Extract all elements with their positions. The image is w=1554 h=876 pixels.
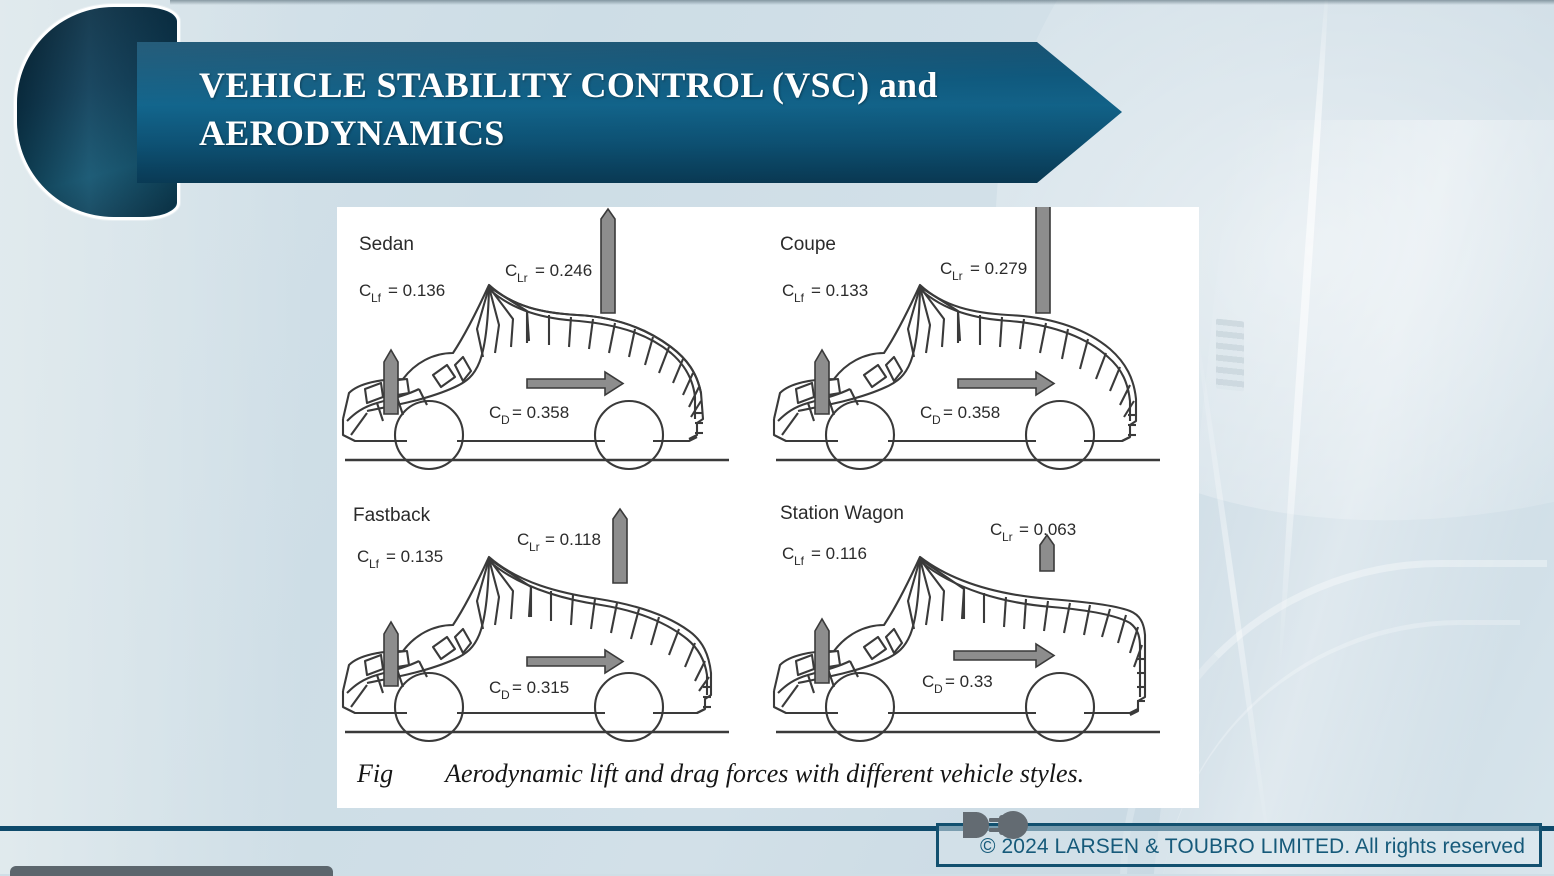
svg-text:Lf: Lf	[369, 557, 380, 571]
svg-text:C: C	[489, 678, 501, 697]
wagon-clf-label: C Lf = 0.116	[782, 544, 867, 568]
svg-text:D: D	[501, 413, 510, 427]
wagon-front-lift-arrow	[815, 619, 829, 683]
top-edge-strip	[170, 0, 1554, 5]
fastback-drag-arrow	[527, 650, 623, 673]
sedan-clr-label: C Lr = 0.246	[505, 261, 592, 285]
fastback-diagram: Fastback C Lf = 0.135 C Lr = 0.118 C D =…	[337, 479, 768, 751]
svg-text:= 0.315: = 0.315	[512, 678, 569, 697]
coupe-cd-label: C D = 0.358	[920, 403, 1000, 427]
station-wagon-diagram: Station Wagon C Lf = 0.116 C Lr = 0.063 …	[768, 479, 1199, 751]
taskbar-stub[interactable]	[10, 866, 333, 876]
svg-text:D: D	[501, 688, 510, 702]
svg-text:C: C	[505, 261, 517, 280]
svg-text:= 0.118: = 0.118	[545, 530, 601, 549]
svg-text:= 0.279: = 0.279	[970, 259, 1027, 278]
wagon-rear-lift-arrow	[1040, 535, 1054, 571]
coupe-drag-arrow	[958, 372, 1054, 395]
svg-text:= 0.063: = 0.063	[1019, 520, 1076, 539]
background-plate-detail	[1216, 319, 1244, 392]
plug-icon	[963, 808, 1033, 842]
svg-text:Lr: Lr	[517, 271, 528, 285]
sedan-title: Sedan	[359, 234, 414, 255]
fastback-title: Fastback	[353, 505, 431, 526]
figure-panels: Sedan C Lf = 0.136 C Lr = 0.246 C D = 0.…	[337, 207, 1199, 752]
svg-text:= 0.358: = 0.358	[943, 403, 1000, 422]
svg-text:C: C	[517, 530, 529, 549]
coupe-front-lift-arrow	[815, 350, 829, 414]
title-banner: VEHICLE STABILITY CONTROL (VSC) and AERO…	[137, 42, 1122, 183]
figure-caption: Fig Aerodynamic lift and drag forces wit…	[357, 759, 1187, 789]
fastback-rear-lift-arrow	[613, 509, 627, 583]
page-title: VEHICLE STABILITY CONTROL (VSC) and AERO…	[199, 62, 1079, 157]
svg-text:C: C	[357, 547, 369, 566]
coupe-rear-lift-arrow	[1036, 207, 1050, 313]
svg-text:D: D	[934, 682, 943, 696]
svg-text:C: C	[782, 544, 794, 563]
svg-text:Lf: Lf	[371, 291, 382, 305]
svg-text:= 0.246: = 0.246	[535, 261, 592, 280]
svg-text:C: C	[922, 672, 934, 691]
coupe-clr-label: C Lr = 0.279	[940, 259, 1027, 283]
svg-text:D: D	[932, 413, 941, 427]
svg-text:C: C	[782, 281, 794, 300]
svg-text:C: C	[940, 259, 952, 278]
coupe-clf-label: C Lf = 0.133	[782, 281, 868, 305]
svg-text:C: C	[920, 403, 932, 422]
figure-card: Sedan C Lf = 0.136 C Lr = 0.246 C D = 0.…	[337, 207, 1199, 808]
svg-text:= 0.33: = 0.33	[945, 672, 993, 691]
svg-text:C: C	[359, 281, 371, 300]
sedan-drag-arrow	[527, 372, 623, 395]
svg-text:= 0.133: = 0.133	[811, 281, 868, 300]
svg-text:Lr: Lr	[1002, 530, 1013, 544]
svg-text:C: C	[489, 403, 501, 422]
svg-text:Lf: Lf	[794, 554, 805, 568]
sedan-clf-label: C Lf = 0.136	[359, 281, 445, 305]
sedan-rear-lift-arrow	[601, 209, 615, 313]
svg-text:= 0.358: = 0.358	[512, 403, 569, 422]
sedan-front-lift-arrow	[384, 350, 398, 414]
coupe-diagram: Coupe C Lf = 0.133 C Lr = 0.279 C D = 0.…	[768, 207, 1199, 479]
fastback-clr-label: C Lr = 0.118	[517, 530, 601, 554]
svg-text:Lf: Lf	[794, 291, 805, 305]
wagon-drag-arrow	[954, 644, 1054, 667]
fastback-cd-label: C D = 0.315	[489, 678, 569, 702]
svg-text:= 0.135: = 0.135	[386, 547, 443, 566]
fastback-front-lift-arrow	[384, 622, 398, 686]
fastback-clf-label: C Lf = 0.135	[357, 547, 443, 571]
coupe-title: Coupe	[780, 234, 836, 255]
svg-text:C: C	[990, 520, 1002, 539]
sedan-cd-label: C D = 0.358	[489, 403, 569, 427]
wagon-title: Station Wagon	[780, 503, 904, 524]
panel-fastback: Fastback C Lf = 0.135 C Lr = 0.118 C D =…	[337, 479, 768, 751]
panel-station-wagon: Station Wagon C Lf = 0.116 C Lr = 0.063 …	[768, 479, 1199, 751]
svg-text:= 0.136: = 0.136	[388, 281, 445, 300]
svg-text:= 0.116: = 0.116	[811, 544, 867, 563]
panel-coupe: Coupe C Lf = 0.133 C Lr = 0.279 C D = 0.…	[768, 207, 1199, 479]
wagon-clr-label: C Lr = 0.063	[990, 520, 1076, 544]
svg-text:Lr: Lr	[952, 269, 963, 283]
svg-text:Lr: Lr	[529, 540, 540, 554]
wagon-cd-label: C D = 0.33	[922, 672, 993, 696]
panel-sedan: Sedan C Lf = 0.136 C Lr = 0.246 C D = 0.…	[337, 207, 768, 479]
sedan-diagram: Sedan C Lf = 0.136 C Lr = 0.246 C D = 0.…	[337, 207, 768, 479]
